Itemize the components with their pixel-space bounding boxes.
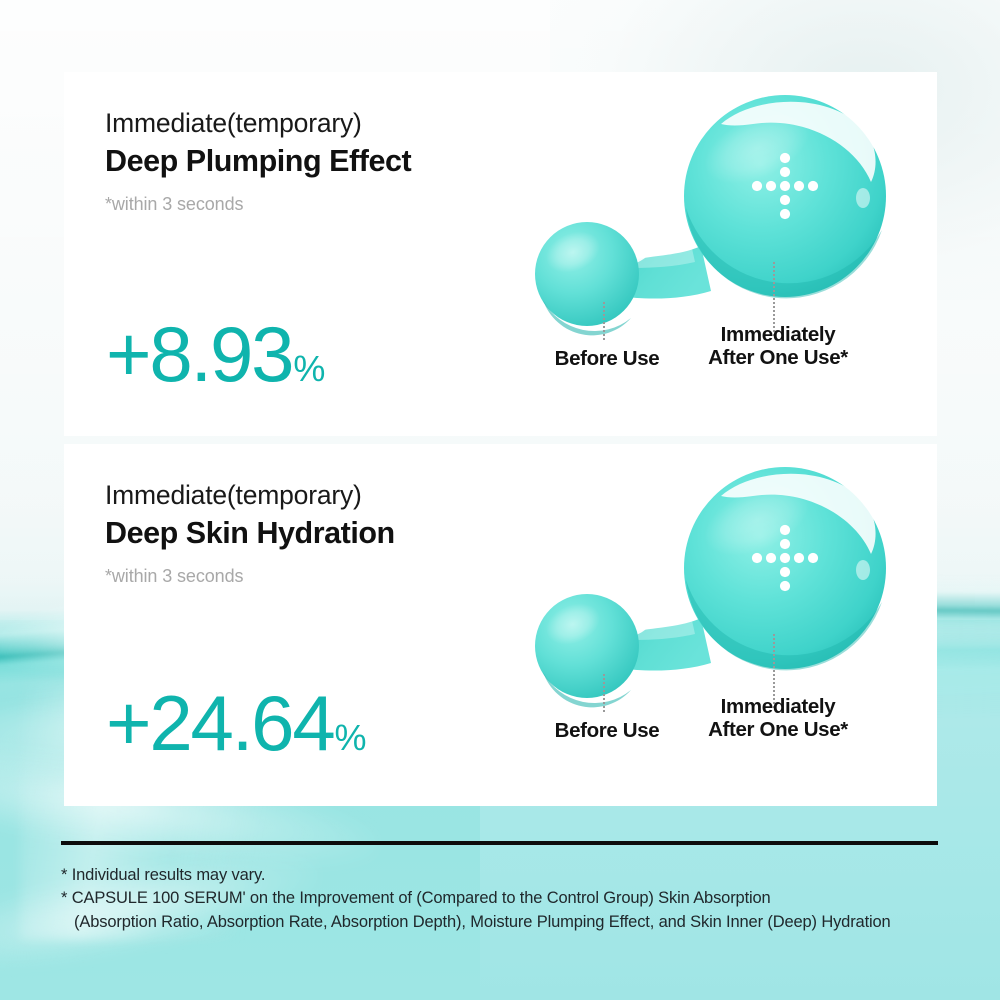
label-after-use-line1: Immediately xyxy=(688,324,868,347)
footer-divider-rule xyxy=(61,841,938,845)
footnote-line-3: (Absorption Ratio, Absorption Rate, Abso… xyxy=(61,911,961,934)
stat-unit: % xyxy=(335,720,366,756)
droplet-comparison-graphic: Before Use Immediately After One Use* xyxy=(525,458,915,788)
benefit-card-plumping: Immediate(temporary) Deep Plumping Effec… xyxy=(64,72,937,436)
label-before-use: Before Use xyxy=(527,720,687,743)
label-after-use: Immediately After One Use* xyxy=(688,696,868,742)
card-eyebrow: Immediate(temporary) xyxy=(105,108,575,139)
footnote-line-1: * Individual results may vary. xyxy=(61,864,961,887)
leader-line-before xyxy=(603,674,605,712)
card-subnote: *within 3 seconds xyxy=(105,566,575,587)
card-eyebrow: Immediate(temporary) xyxy=(105,480,575,511)
card-text-column: Immediate(temporary) Deep Skin Hydration… xyxy=(105,480,575,587)
card-headline: Deep Skin Hydration xyxy=(105,515,575,552)
stat-unit: % xyxy=(293,351,324,387)
infographic-page: Immediate(temporary) Deep Plumping Effec… xyxy=(0,0,1000,1000)
card-headline: Deep Plumping Effect xyxy=(105,143,575,180)
stat-value: +24.64 xyxy=(106,684,334,762)
label-before-use: Before Use xyxy=(527,348,687,371)
label-after-use-line2: After One Use* xyxy=(688,347,868,370)
footnotes-block: * Individual results may vary. * CAPSULE… xyxy=(61,864,961,934)
label-after-use-line2: After One Use* xyxy=(688,719,868,742)
card-text-column: Immediate(temporary) Deep Plumping Effec… xyxy=(105,108,575,215)
label-after-use: Immediately After One Use* xyxy=(688,324,868,370)
benefit-card-hydration: Immediate(temporary) Deep Skin Hydration… xyxy=(64,444,937,806)
footnote-line-2: * CAPSULE 100 SERUM' on the Improvement … xyxy=(61,887,961,910)
leader-line-before xyxy=(603,302,605,340)
card-stat: +8.93 % xyxy=(106,315,325,393)
card-subnote: *within 3 seconds xyxy=(105,194,575,215)
card-stat: +24.64 % xyxy=(106,684,366,762)
stat-value: +8.93 xyxy=(106,315,292,393)
droplet-comparison-graphic: Before Use Immediately After One Use* xyxy=(525,86,915,416)
label-after-use-line1: Immediately xyxy=(688,696,868,719)
